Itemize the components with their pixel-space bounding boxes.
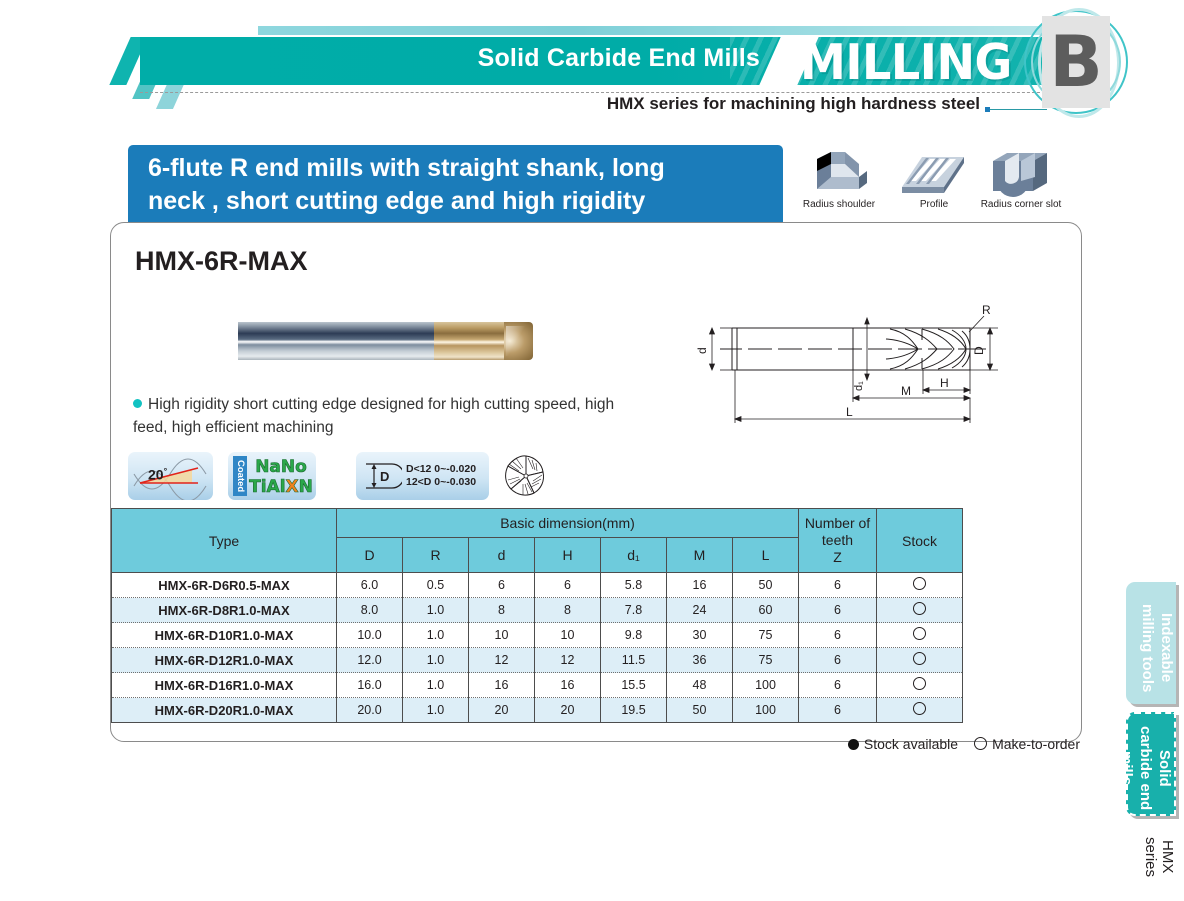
application-icon-label: Radius corner slot <box>975 199 1067 210</box>
feature-badge-coating: Coated NaNo TiAlXN <box>228 452 316 500</box>
product-photo-tip <box>504 322 533 360</box>
th-basic-dimension: Basic dimension(mm) <box>337 509 799 538</box>
product-feature-label: High rigidity short cutting edge designe… <box>133 396 614 436</box>
side-tab-indexable-milling-tools[interactable]: Indexable milling tools <box>1126 582 1176 704</box>
th-dim-H: H <box>535 538 601 573</box>
cell-H: 12 <box>535 648 601 673</box>
cell-R: 0.5 <box>403 573 469 598</box>
cell-L: 50 <box>733 573 799 598</box>
cell-d1: 7.8 <box>601 598 667 623</box>
page-header: Solid Carbide End Mills MILLING B HMX se… <box>0 0 1184 130</box>
table-row: HMX-6R-D10R1.0-MAX10.01.010109.830756 <box>112 623 963 648</box>
cell-type: HMX-6R-D20R1.0-MAX <box>112 698 337 723</box>
product-title-line2: neck , short cutting edge and high rigid… <box>148 185 769 218</box>
dim-label-d: d <box>695 347 709 354</box>
th-dim-d1: d₁ <box>601 538 667 573</box>
cell-type: HMX-6R-D6R0.5-MAX <box>112 573 337 598</box>
cell-H: 8 <box>535 598 601 623</box>
header-subtitle: HMX series for machining high hardness s… <box>300 94 980 114</box>
dim-label-L: L <box>846 405 853 419</box>
stock-available-label: Stock available <box>864 736 958 752</box>
cell-type: HMX-6R-D12R1.0-MAX <box>112 648 337 673</box>
cell-stock <box>877 673 963 698</box>
table-head: Type Basic dimension(mm) Number of teeth… <box>112 509 963 573</box>
specification-table: Type Basic dimension(mm) Number of teeth… <box>111 508 963 723</box>
table-row: HMX-6R-D20R1.0-MAX20.01.0202019.5501006 <box>112 698 963 723</box>
cell-d1: 9.8 <box>601 623 667 648</box>
cell-H: 20 <box>535 698 601 723</box>
cell-D: 10.0 <box>337 623 403 648</box>
side-tab-indexable-line1: Indexable <box>1158 613 1175 682</box>
dim-label-d1: d₁ <box>853 381 865 391</box>
make-to-order-icon <box>913 677 926 690</box>
cell-M: 30 <box>667 623 733 648</box>
cell-d1: 11.5 <box>601 648 667 673</box>
cell-type: HMX-6R-D8R1.0-MAX <box>112 598 337 623</box>
helix-angle-label: 20° <box>148 466 167 483</box>
cell-L: 75 <box>733 623 799 648</box>
radius-corner-slot-icon <box>985 147 1057 197</box>
product-name: HMX-6R-MAX <box>135 246 308 277</box>
coating-line1: NaNo <box>255 457 307 477</box>
cell-teeth: 6 <box>799 573 877 598</box>
make-to-order-icon <box>913 652 926 665</box>
cell-R: 1.0 <box>403 673 469 698</box>
cell-stock <box>877 573 963 598</box>
cell-d: 16 <box>469 673 535 698</box>
coating-name: NaNo TiAlXN <box>249 457 313 497</box>
tolerance-row-1: D<12 0~-0.020 <box>406 463 476 475</box>
cell-type: HMX-6R-D10R1.0-MAX <box>112 623 337 648</box>
cell-D: 16.0 <box>337 673 403 698</box>
tool-dimension-diagram: d D d₁ R H <box>690 288 1070 433</box>
cell-R: 1.0 <box>403 648 469 673</box>
application-icon-group: Radius shoulder Profile Radius corner sl… <box>793 147 1083 223</box>
th-dim-D: D <box>337 538 403 573</box>
6-flute-end-view-icon <box>502 452 550 500</box>
cell-teeth: 6 <box>799 598 877 623</box>
cell-D: 6.0 <box>337 573 403 598</box>
cell-M: 36 <box>667 648 733 673</box>
technical-drawing: d D d₁ R H <box>690 288 1070 433</box>
stock-available-icon <box>848 739 859 750</box>
cell-D: 8.0 <box>337 598 403 623</box>
stock-legend: Stock availableMake-to-order <box>700 736 1080 752</box>
dim-label-R: R <box>982 303 991 317</box>
tolerance-values: D<12 0~-0.020 12<D 0~-0.030 <box>406 463 476 489</box>
cell-d: 6 <box>469 573 535 598</box>
header-title: Solid Carbide End Mills <box>420 44 760 73</box>
table-row: HMX-6R-D6R0.5-MAX6.00.5665.816506 <box>112 573 963 598</box>
side-tab-solid-line1: Solid carbide <box>1137 726 1173 786</box>
th-dim-R: R <box>403 538 469 573</box>
table-body: HMX-6R-D6R0.5-MAX6.00.5665.816506HMX-6R-… <box>112 573 963 723</box>
side-tab-solid-carbide-end-mills[interactable]: Solid carbide end mills <box>1126 712 1176 816</box>
cell-H: 16 <box>535 673 601 698</box>
header-section-badge: B <box>1020 6 1132 118</box>
feature-badge-flute-count <box>502 452 550 500</box>
cell-M: 24 <box>667 598 733 623</box>
th-dim-M: M <box>667 538 733 573</box>
cell-stock <box>877 648 963 673</box>
cell-L: 100 <box>733 673 799 698</box>
cell-stock <box>877 623 963 648</box>
cell-D: 12.0 <box>337 648 403 673</box>
cell-L: 75 <box>733 648 799 673</box>
make-to-order-icon <box>913 577 926 590</box>
side-label-hmx-series: HMX series <box>1126 822 1176 892</box>
dim-label-M: M <box>901 384 911 398</box>
header-divider <box>140 92 1060 93</box>
svg-text:D: D <box>380 469 389 484</box>
product-title-line1: 6-flute R end mills with straight shank,… <box>148 152 769 185</box>
helix-angle-icon <box>128 452 213 500</box>
cell-M: 48 <box>667 673 733 698</box>
product-photo <box>238 320 533 362</box>
th-type: Type <box>112 509 337 573</box>
table-row: HMX-6R-D12R1.0-MAX12.01.0121211.536756 <box>112 648 963 673</box>
cell-d: 12 <box>469 648 535 673</box>
application-icon-label: Radius shoulder <box>793 199 885 210</box>
feature-badge-helix-angle: 20° <box>128 452 213 500</box>
make-to-order-icon <box>913 602 926 615</box>
application-icon-radius-shoulder: Radius shoulder <box>793 147 885 197</box>
bullet-dot-icon <box>133 399 142 408</box>
th-dim-L: L <box>733 538 799 573</box>
cell-teeth: 6 <box>799 623 877 648</box>
cell-H: 6 <box>535 573 601 598</box>
product-feature-text: High rigidity short cutting edge designe… <box>133 393 633 439</box>
cell-d: 8 <box>469 598 535 623</box>
cell-R: 1.0 <box>403 598 469 623</box>
cell-d1: 19.5 <box>601 698 667 723</box>
cell-teeth: 6 <box>799 698 877 723</box>
make-to-order-icon <box>913 627 926 640</box>
cell-teeth: 6 <box>799 648 877 673</box>
th-stock: Stock <box>877 509 963 573</box>
cell-R: 1.0 <box>403 698 469 723</box>
make-to-order-icon <box>974 737 987 750</box>
cell-H: 10 <box>535 623 601 648</box>
table-head-row-1: Type Basic dimension(mm) Number of teeth… <box>112 509 963 538</box>
make-to-order-icon <box>913 702 926 715</box>
coated-label: Coated <box>233 456 247 496</box>
side-tab-indexable-line2: milling tools <box>1139 604 1156 692</box>
dim-label-D: D <box>972 346 986 355</box>
product-photo-shank <box>238 322 435 360</box>
cell-M: 16 <box>667 573 733 598</box>
dim-label-H: H <box>940 376 949 390</box>
cell-L: 60 <box>733 598 799 623</box>
radius-shoulder-icon <box>809 147 869 197</box>
cell-L: 100 <box>733 698 799 723</box>
cell-d1: 5.8 <box>601 573 667 598</box>
cell-d: 10 <box>469 623 535 648</box>
cell-d: 20 <box>469 698 535 723</box>
cell-type: HMX-6R-D16R1.0-MAX <box>112 673 337 698</box>
cell-D: 20.0 <box>337 698 403 723</box>
make-to-order-label: Make-to-order <box>992 736 1080 752</box>
coating-line2: TiAlXN <box>249 477 313 497</box>
cell-d1: 15.5 <box>601 673 667 698</box>
application-icon-label: Profile <box>888 199 980 210</box>
application-icon-profile: Profile <box>888 147 980 197</box>
tolerance-row-2: 12<D 0~-0.030 <box>406 476 476 488</box>
cell-R: 1.0 <box>403 623 469 648</box>
cell-M: 50 <box>667 698 733 723</box>
badge-letter: B <box>1042 16 1110 108</box>
th-number-of-teeth: Number of teeth Z <box>799 509 877 573</box>
table-row: HMX-6R-D16R1.0-MAX16.01.0161615.5481006 <box>112 673 963 698</box>
profile-icon <box>898 147 970 197</box>
table-row: HMX-6R-D8R1.0-MAX8.01.0887.824606 <box>112 598 963 623</box>
cell-stock <box>877 698 963 723</box>
feature-badge-tolerance: D D<12 0~-0.020 12<D 0~-0.030 <box>356 452 489 500</box>
th-dim-d: d <box>469 538 535 573</box>
header-category-label: MILLING <box>800 34 1012 91</box>
application-icon-radius-corner-slot: Radius corner slot <box>975 147 1067 197</box>
product-title-banner: 6-flute R end mills with straight shank,… <box>128 145 783 222</box>
cell-teeth: 6 <box>799 673 877 698</box>
diameter-tolerance-icon: D <box>362 461 402 491</box>
cell-stock <box>877 598 963 623</box>
